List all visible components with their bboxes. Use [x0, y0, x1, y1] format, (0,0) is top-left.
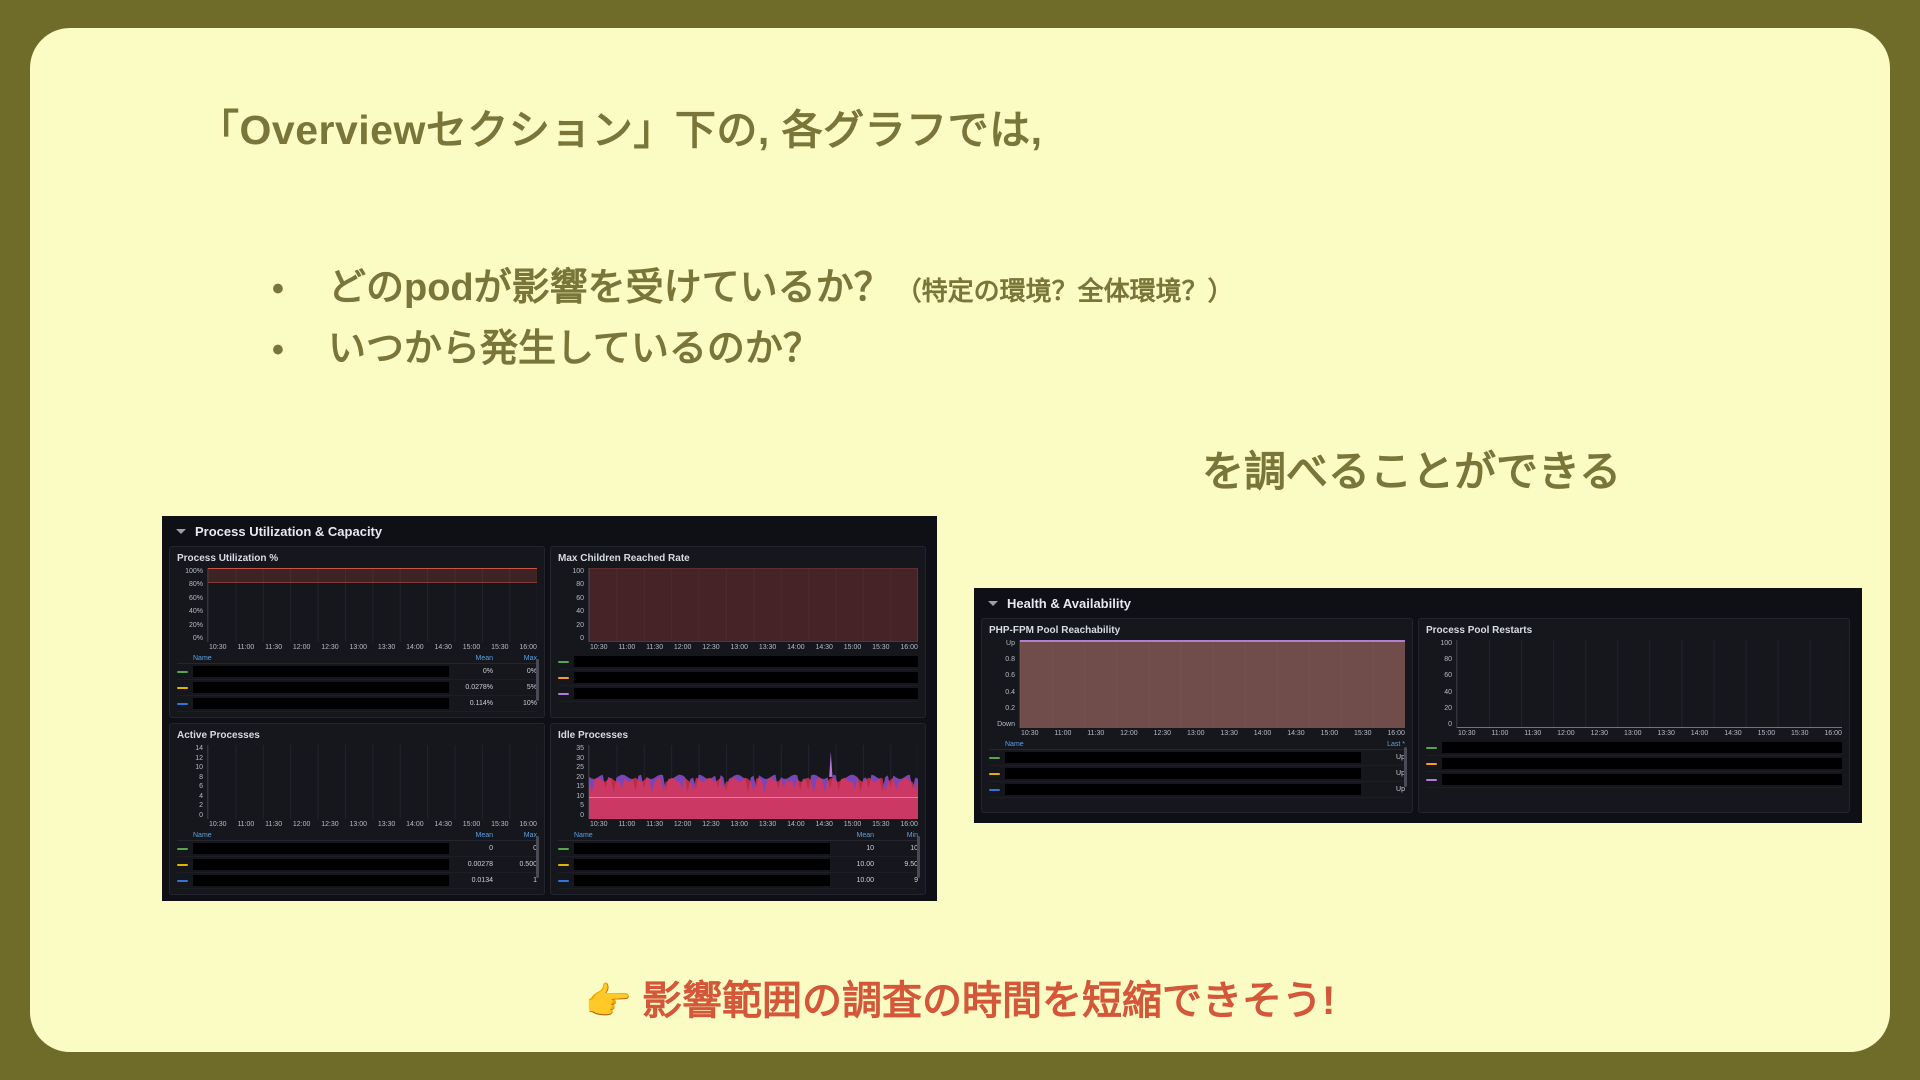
- dashboard-section-header[interactable]: Process Utilization & Capacity: [162, 516, 937, 546]
- legend-row[interactable]: Up: [989, 750, 1405, 766]
- x-tick: 15:00: [463, 644, 481, 651]
- x-tick: 14:00: [787, 821, 805, 828]
- x-tick: 11:00: [618, 821, 635, 828]
- y-tick: 20%: [189, 622, 203, 629]
- panel-idle-processes: Idle Processes 35302520151050 10:3011:00…: [550, 723, 926, 895]
- chart-canvas: [207, 745, 537, 819]
- x-axis: 10:3011:0011:3012:0012:3013:0013:3014:00…: [1426, 728, 1842, 737]
- plot-area: 100 80 60 40 20 0: [558, 568, 918, 642]
- x-tick: 15:00: [844, 821, 862, 828]
- panel-title: Process Pool Restarts: [1426, 625, 1842, 636]
- legend-value: Up: [1361, 786, 1405, 793]
- legend-row[interactable]: [1426, 772, 1842, 788]
- legend-color-swatch[interactable]: [177, 687, 188, 689]
- x-tick: 13:30: [759, 644, 777, 651]
- y-tick: 35: [576, 745, 584, 752]
- y-tick: 10: [195, 764, 203, 771]
- legend-column-header[interactable]: Name: [177, 655, 449, 662]
- chart-canvas: [207, 568, 537, 642]
- legend-series-name: [574, 843, 830, 854]
- legend-header-row: NameLast *: [989, 740, 1405, 750]
- legend-color-swatch[interactable]: [177, 848, 188, 850]
- legend-value: 0.0278%: [449, 684, 493, 691]
- legend-series-name: avg: [193, 682, 449, 693]
- legend-value: 10.00: [830, 861, 874, 868]
- x-tick: 12:30: [702, 644, 720, 651]
- legend-header-row: NameMeanMax: [177, 831, 537, 841]
- y-tick: 14: [195, 745, 203, 752]
- x-tick: 12:00: [674, 821, 692, 828]
- bullet-text: いつから発生しているのか？: [328, 317, 821, 372]
- legend-table[interactable]: NameLast * Up Up Up: [989, 740, 1405, 798]
- legend-row[interactable]: 0.01341: [177, 873, 537, 889]
- chevron-down-icon[interactable]: [176, 529, 186, 534]
- plot-area: 14121086420: [177, 745, 537, 819]
- legend-value: 0%: [449, 668, 493, 675]
- legend-series-name: [1005, 784, 1361, 795]
- legend-series-name: avg: [193, 698, 449, 709]
- legend-value: 0%: [493, 668, 537, 675]
- legend-row[interactable]: Up: [989, 782, 1405, 798]
- legend-table[interactable]: NameMeanMin 1010 10.009.50 10.009: [558, 831, 918, 889]
- x-tick: 12:00: [674, 644, 692, 651]
- y-axis: 14121086420: [177, 745, 207, 819]
- x-tick: 16:00: [519, 644, 537, 651]
- y-axis: 35302520151050: [558, 745, 588, 819]
- y-tick: 0: [580, 812, 584, 819]
- bullet-list: • どのpodが影響を受けているか？ （特定の環境？全体環境？） • いつから発…: [272, 256, 1234, 378]
- legend-color-swatch[interactable]: [558, 864, 569, 866]
- bullet-marker-icon: •: [272, 333, 328, 367]
- legend-series-name: [574, 656, 918, 667]
- x-tick: 14:00: [1691, 730, 1709, 737]
- legend-table[interactable]: NameMeanMax 00 0.002780.500 0.01341: [177, 831, 537, 889]
- y-tick: 20: [576, 774, 584, 781]
- x-tick: 10:30: [209, 644, 227, 651]
- y-tick: 4: [199, 793, 203, 800]
- panel-grid: Process Utilization % 100% 80% 60% 40% 2…: [162, 546, 937, 901]
- x-tick: 11:30: [1087, 730, 1104, 737]
- x-tick: 11:30: [646, 644, 663, 651]
- y-tick: 30: [576, 755, 584, 762]
- series-flat-zero-shaded: [589, 568, 918, 642]
- y-tick: 40: [1444, 689, 1452, 696]
- chart-canvas: [1019, 640, 1405, 728]
- plot-area: 100% 80% 60% 40% 20% 0%: [177, 568, 537, 642]
- pointing-hand-icon: 👉: [585, 981, 632, 1023]
- legend-table[interactable]: NameMeanMaxavg0%0%avg0.0278%5%avg0.114%1…: [177, 654, 537, 712]
- legend-scrollbar[interactable]: [536, 659, 539, 701]
- y-tick: 0: [1448, 721, 1452, 728]
- legend-header-row: NameMeanMin: [558, 831, 918, 841]
- x-tick: 11:00: [1491, 730, 1508, 737]
- panel-title: Idle Processes: [558, 730, 918, 741]
- x-tick: 10:30: [1021, 730, 1039, 737]
- x-tick: 13:00: [1187, 730, 1205, 737]
- chart-canvas: [588, 568, 918, 642]
- grafana-screenshot-health-availability: Health & Availability PHP-FPM Pool Reach…: [974, 588, 1862, 823]
- plot-area: 100806040200: [1426, 640, 1842, 728]
- y-tick: 8: [199, 774, 203, 781]
- legend-series-name: avg: [193, 666, 449, 677]
- legend-column-header[interactable]: Max: [493, 832, 537, 839]
- page-title: 「Overviewセクション」下の, 各グラフでは,: [198, 96, 1043, 156]
- x-tick: 13:30: [378, 644, 396, 651]
- x-tick: 14:00: [787, 644, 805, 651]
- legend-scrollbar[interactable]: [536, 836, 539, 878]
- panel-grid: PHP-FPM Pool Reachability Up0.80.60.40.2…: [974, 618, 1862, 820]
- legend-value: 0.500: [493, 861, 537, 868]
- legend-series-name: [574, 875, 830, 886]
- x-tick: 16:00: [1387, 730, 1405, 737]
- series-spikes: [208, 745, 537, 819]
- legend-series-name: [193, 875, 449, 886]
- legend-value: 10: [830, 845, 874, 852]
- x-axis: 10:3011:0011:3012:0012:3013:0013:3014:00…: [558, 819, 918, 828]
- y-tick: Down: [997, 721, 1015, 728]
- x-tick: 16:00: [900, 644, 918, 651]
- y-axis: 100806040200: [1426, 640, 1456, 728]
- list-item: • どのpodが影響を受けているか？ （特定の環境？全体環境？）: [272, 256, 1234, 311]
- panel-title: Max Children Reached Rate: [558, 553, 918, 564]
- x-tick: 11:30: [265, 821, 282, 828]
- x-tick: 15:00: [1321, 730, 1339, 737]
- legend-column-header[interactable]: Name: [989, 741, 1361, 748]
- y-tick: 0.8: [1005, 656, 1015, 663]
- x-tick: 14:30: [1287, 730, 1305, 737]
- x-tick: 15:30: [872, 821, 890, 828]
- y-tick: 80%: [189, 581, 203, 588]
- legend-row[interactable]: [1426, 756, 1842, 772]
- y-tick: 0.4: [1005, 689, 1015, 696]
- y-tick: 6: [199, 783, 203, 790]
- legend-column-header[interactable]: Min: [874, 832, 918, 839]
- x-tick: 15:00: [1758, 730, 1776, 737]
- legend-value: Up: [1361, 754, 1405, 761]
- y-tick: 20: [576, 622, 584, 629]
- x-axis: 10:3011:0011:3012:0012:3013:0013:3014:00…: [177, 819, 537, 828]
- legend-color-swatch[interactable]: [177, 880, 188, 882]
- legend-column-header[interactable]: Name: [177, 832, 449, 839]
- series-up-area: [1020, 640, 1405, 728]
- x-axis: 10:3011:0011:3012:0012:3013:0013:3014:00…: [177, 642, 537, 651]
- x-tick: 11:30: [265, 644, 282, 651]
- x-tick: 12:30: [1154, 730, 1172, 737]
- x-tick: 14:30: [434, 644, 452, 651]
- plot-area: Up0.80.60.40.2Down: [989, 640, 1405, 728]
- chart-canvas: [588, 745, 918, 819]
- legend-color-swatch[interactable]: [558, 848, 569, 850]
- legend-value: 0: [493, 845, 537, 852]
- section-title: Health & Availability: [1007, 596, 1131, 611]
- y-tick: 100: [572, 568, 584, 575]
- cta-text: 影響範囲の調査の時間を短縮できそう!: [642, 979, 1335, 1023]
- x-tick: 15:30: [1354, 730, 1372, 737]
- y-tick: 80: [1444, 656, 1452, 663]
- legend-series-name: [1005, 752, 1361, 763]
- x-tick: 11:30: [646, 821, 663, 828]
- call-to-action: 👉影響範囲の調査の時間を短縮できそう!: [30, 968, 1890, 1026]
- x-tick: 10:30: [1458, 730, 1476, 737]
- y-tick: 12: [195, 755, 203, 762]
- y-tick: 5: [580, 802, 584, 809]
- legend-row[interactable]: avg0%0%: [177, 664, 537, 680]
- x-tick: 15:30: [1791, 730, 1809, 737]
- legend-color-swatch[interactable]: [177, 671, 188, 673]
- x-tick: 12:30: [702, 821, 720, 828]
- y-tick: 60%: [189, 595, 203, 602]
- x-tick: 11:00: [237, 644, 254, 651]
- legend-series-name: [574, 672, 918, 683]
- x-tick: 10:30: [209, 821, 227, 828]
- legend-column-header[interactable]: Max: [493, 655, 537, 662]
- x-tick: 15:30: [872, 644, 890, 651]
- legend-color-swatch[interactable]: [177, 703, 188, 705]
- y-tick: Up: [1006, 640, 1015, 647]
- y-tick: 40%: [189, 608, 203, 615]
- legend-series-name: [1442, 742, 1842, 753]
- dashboard-section-header[interactable]: Health & Availability: [974, 588, 1862, 618]
- chevron-down-icon[interactable]: [988, 601, 998, 606]
- legend-value: Up: [1361, 770, 1405, 777]
- plot-area: 35302520151050: [558, 745, 918, 819]
- legend-color-swatch[interactable]: [558, 677, 569, 679]
- x-axis: 10:3011:0011:3012:0012:3013:0013:3014:00…: [989, 728, 1405, 737]
- x-tick: 11:00: [618, 644, 635, 651]
- y-axis: 100% 80% 60% 40% 20% 0%: [177, 568, 207, 642]
- x-tick: 15:30: [491, 821, 509, 828]
- x-axis: 10:3011:0011:3012:0012:3013:0013:3014:00…: [558, 642, 918, 651]
- panel-title: PHP-FPM Pool Reachability: [989, 625, 1405, 636]
- legend-value: 5%: [493, 684, 537, 691]
- x-tick: 16:00: [1824, 730, 1842, 737]
- legend-color-swatch[interactable]: [1426, 779, 1437, 781]
- legend-series-name: [574, 688, 918, 699]
- y-tick: 80: [576, 581, 584, 588]
- y-tick: 15: [576, 783, 584, 790]
- legend-header-row: NameMeanMax: [177, 654, 537, 664]
- bullet-marker-icon: •: [272, 272, 328, 306]
- x-tick: 14:30: [815, 821, 833, 828]
- x-tick: 12:30: [321, 821, 339, 828]
- y-tick: 0.2: [1005, 705, 1015, 712]
- legend-row[interactable]: 10.009: [558, 873, 918, 889]
- x-tick: 13:30: [1220, 730, 1238, 737]
- x-tick: 13:00: [350, 821, 368, 828]
- x-tick: 12:00: [293, 821, 311, 828]
- x-tick: 12:00: [293, 644, 311, 651]
- legend-value: 0: [449, 845, 493, 852]
- legend-table[interactable]: [558, 654, 918, 702]
- x-tick: 13:30: [378, 821, 396, 828]
- x-tick: 10:30: [590, 644, 608, 651]
- x-tick: 13:00: [731, 644, 749, 651]
- legend-color-swatch[interactable]: [558, 880, 569, 882]
- x-tick: 10:30: [590, 821, 608, 828]
- panel-title: Process Utilization %: [177, 553, 537, 564]
- x-tick: 12:30: [1591, 730, 1609, 737]
- grafana-screenshot-process-utilization: Process Utilization & Capacity Process U…: [162, 516, 937, 901]
- legend-row[interactable]: 1010: [558, 841, 918, 857]
- x-tick: 14:30: [434, 821, 452, 828]
- x-tick: 14:00: [1254, 730, 1272, 737]
- x-tick: 16:00: [519, 821, 537, 828]
- x-tick: 11:00: [1054, 730, 1071, 737]
- legend-series-name: [574, 859, 830, 870]
- x-tick: 12:00: [1557, 730, 1575, 737]
- x-tick: 14:00: [406, 821, 424, 828]
- legend-value: 10.00: [830, 877, 874, 884]
- legend-value: 10: [874, 845, 918, 852]
- x-tick: 12:30: [321, 644, 339, 651]
- legend-color-swatch[interactable]: [989, 789, 1000, 791]
- legend-value: 9: [874, 877, 918, 884]
- y-tick: 60: [1444, 672, 1452, 679]
- legend-value: 0.114%: [449, 700, 493, 707]
- legend-row[interactable]: [1426, 740, 1842, 756]
- legend-scrollbar[interactable]: [917, 836, 920, 878]
- y-tick: 10: [576, 793, 584, 800]
- y-tick: 0: [580, 635, 584, 642]
- legend-value: 9.50: [874, 861, 918, 868]
- legend-row[interactable]: [558, 686, 918, 702]
- x-tick: 15:00: [463, 821, 481, 828]
- legend-row[interactable]: avg0.0278%5%: [177, 680, 537, 696]
- x-tick: 12:00: [1120, 730, 1138, 737]
- x-tick: 14:00: [406, 644, 424, 651]
- legend-column-header[interactable]: Mean: [449, 655, 493, 662]
- list-item: • いつから発生しているのか？: [272, 317, 1234, 372]
- x-tick: 15:00: [844, 644, 862, 651]
- slide: 「Overviewセクション」下の, 各グラフでは, • どのpodが影響を受け…: [30, 28, 1890, 1052]
- section-title: Process Utilization & Capacity: [195, 524, 382, 539]
- legend-color-swatch[interactable]: [558, 661, 569, 663]
- legend-row[interactable]: 0.002780.500: [177, 857, 537, 873]
- legend-color-swatch[interactable]: [989, 773, 1000, 775]
- legend-value: 0.0134: [449, 877, 493, 884]
- conclusion-text: を調べることができる: [1202, 438, 1621, 499]
- x-tick: 11:30: [1524, 730, 1541, 737]
- chart-canvas: [1456, 640, 1842, 728]
- x-tick: 14:30: [1724, 730, 1742, 737]
- legend-row[interactable]: Up: [989, 766, 1405, 782]
- x-tick: 13:30: [759, 821, 777, 828]
- legend-series-name: [1442, 774, 1842, 785]
- legend-value: 1: [493, 877, 537, 884]
- bullet-parenthetical: （特定の環境？全体環境？）: [896, 271, 1234, 308]
- y-tick: 100%: [185, 568, 203, 575]
- legend-row[interactable]: [558, 670, 918, 686]
- y-tick: 40: [576, 608, 584, 615]
- x-tick: 15:30: [491, 644, 509, 651]
- panel-process-pool-restarts: Process Pool Restarts 100806040200 10:30…: [1418, 618, 1850, 813]
- legend-series-name: [1005, 768, 1361, 779]
- legend-table[interactable]: [1426, 740, 1842, 788]
- legend-color-swatch[interactable]: [177, 864, 188, 866]
- panel-active-processes: Active Processes 14121086420 10:3011:001…: [169, 723, 545, 895]
- x-tick: 13:00: [1624, 730, 1642, 737]
- legend-series-name: [1442, 758, 1842, 769]
- y-tick: 60: [576, 595, 584, 602]
- bullet-text: どのpodが影響を受けているか？: [328, 256, 892, 311]
- series-flat-zero: [1457, 727, 1842, 728]
- legend-column-header[interactable]: Mean: [830, 832, 874, 839]
- legend-column-header[interactable]: Last *: [1361, 741, 1405, 748]
- y-tick: 25: [576, 764, 584, 771]
- legend-color-swatch[interactable]: [1426, 747, 1437, 749]
- x-tick: 11:00: [237, 821, 254, 828]
- x-tick: 13:00: [350, 644, 368, 651]
- legend-value: 10%: [493, 700, 537, 707]
- legend-color-swatch[interactable]: [989, 757, 1000, 759]
- legend-scrollbar[interactable]: [1404, 747, 1407, 787]
- legend-color-swatch[interactable]: [1426, 763, 1437, 765]
- y-tick: 2: [199, 802, 203, 809]
- legend-column-header[interactable]: Mean: [449, 832, 493, 839]
- y-tick: 20: [1444, 705, 1452, 712]
- x-tick: 16:00: [900, 821, 918, 828]
- y-axis: Up0.80.60.40.2Down: [989, 640, 1019, 728]
- series-band: [589, 745, 918, 819]
- panel-max-children-reached-rate: Max Children Reached Rate 100 80 60 40 2…: [550, 546, 926, 718]
- legend-series-name: [193, 843, 449, 854]
- legend-column-header[interactable]: Name: [558, 832, 830, 839]
- x-tick: 13:30: [1657, 730, 1675, 737]
- y-axis: 100 80 60 40 20 0: [558, 568, 588, 642]
- panel-process-utilization: Process Utilization % 100% 80% 60% 40% 2…: [169, 546, 545, 718]
- panel-php-fpm-pool-reachability: PHP-FPM Pool Reachability Up0.80.60.40.2…: [981, 618, 1413, 813]
- x-tick: 13:00: [731, 821, 749, 828]
- y-tick: 0%: [193, 635, 203, 642]
- y-tick: 0.6: [1005, 672, 1015, 679]
- legend-row[interactable]: avg0.114%10%: [177, 696, 537, 712]
- x-tick: 14:30: [815, 644, 833, 651]
- legend-row[interactable]: 00: [177, 841, 537, 857]
- y-tick: 0: [199, 812, 203, 819]
- series-spikes: [208, 568, 537, 642]
- legend-row[interactable]: 10.009.50: [558, 857, 918, 873]
- panel-title: Active Processes: [177, 730, 537, 741]
- legend-value: 0.00278: [449, 861, 493, 868]
- legend-color-swatch[interactable]: [558, 693, 569, 695]
- y-tick: 100: [1440, 640, 1452, 647]
- legend-series-name: [193, 859, 449, 870]
- legend-row[interactable]: [558, 654, 918, 670]
